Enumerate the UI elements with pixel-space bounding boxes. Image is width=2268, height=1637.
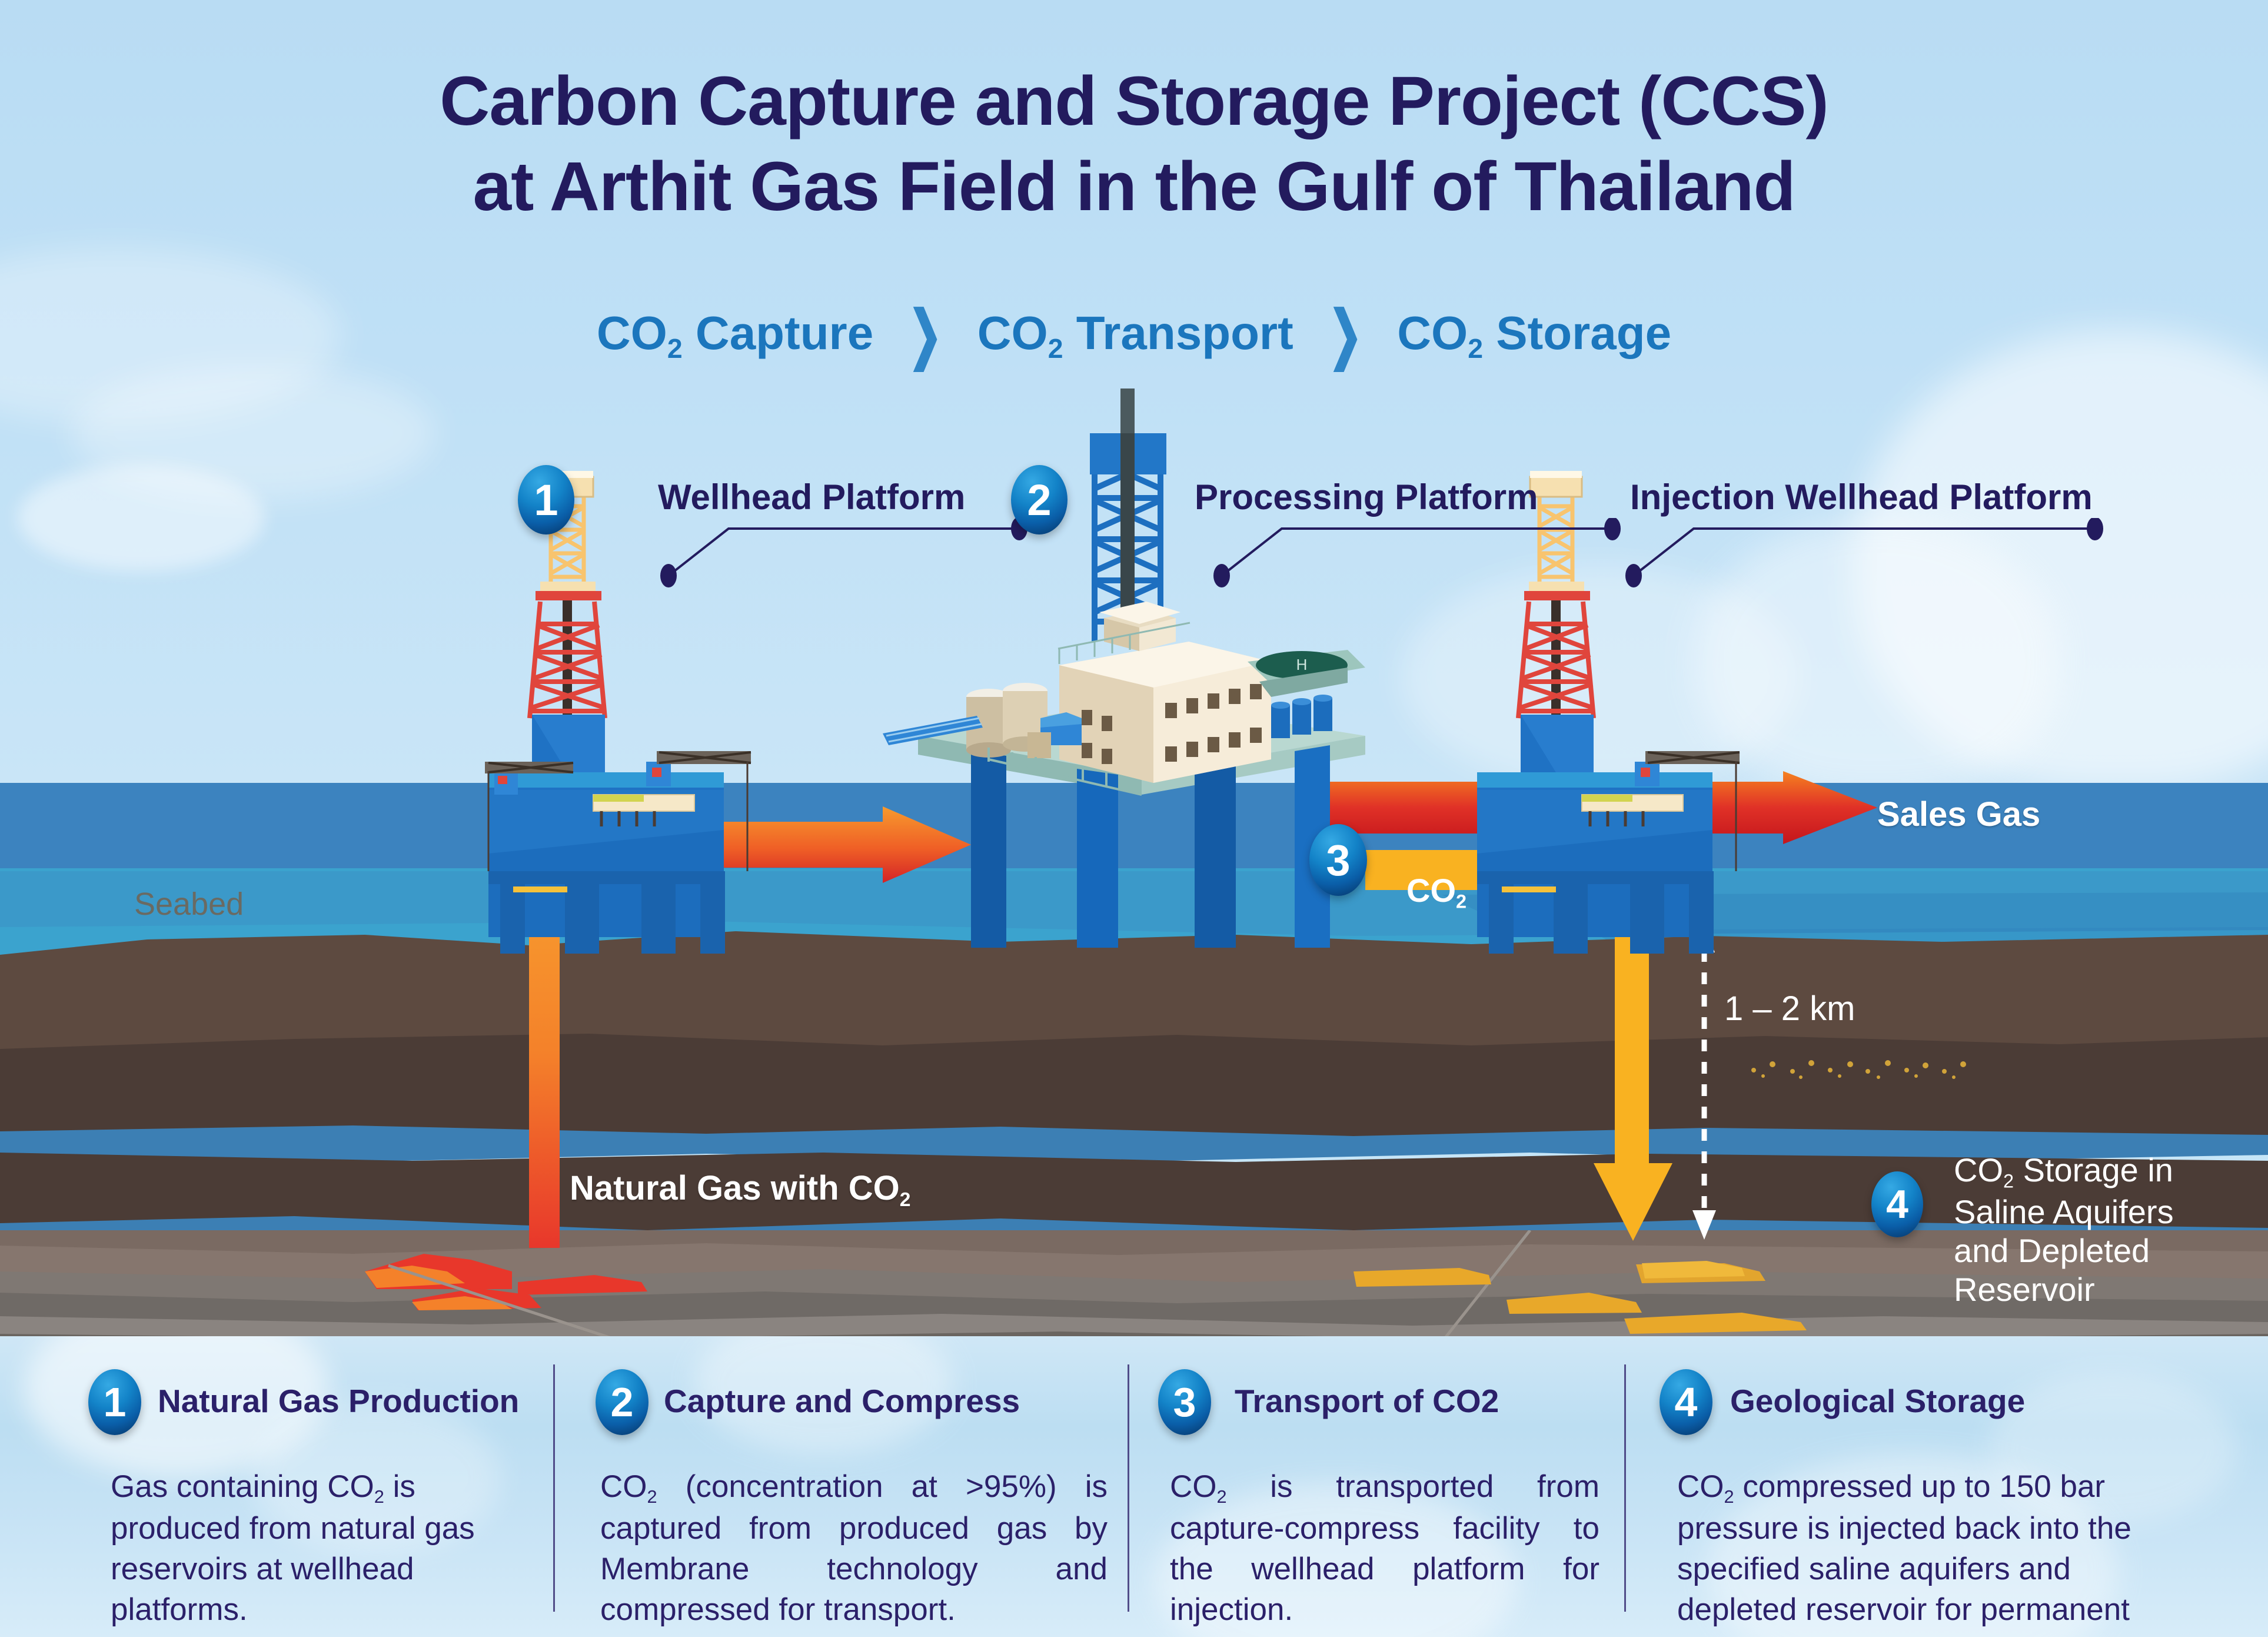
leader-line-platform-3 bbox=[1612, 518, 2119, 589]
cloud-decoration bbox=[18, 465, 265, 571]
svg-text:H: H bbox=[1296, 656, 1308, 673]
step-badge-4: 4 bbox=[1660, 1369, 1712, 1435]
panel-divider bbox=[553, 1364, 555, 1612]
sediment-grains bbox=[1742, 1054, 1989, 1083]
title-line-1: Carbon Capture and Storage Project (CCS) bbox=[0, 59, 2268, 144]
step-heading-3: Transport of CO2 bbox=[1235, 1382, 1499, 1420]
step-body-1: Gas containing CO2 is produced from natu… bbox=[111, 1467, 523, 1630]
storage-line-2: Saline Aquifers bbox=[1954, 1193, 2174, 1231]
flow-step-storage: CO2 Storage bbox=[1397, 306, 1671, 364]
step-body-3: CO2 is transported from capture-compress… bbox=[1170, 1467, 1599, 1630]
storage-line-1: CO2 Storage in bbox=[1954, 1151, 2174, 1193]
infographic-canvas: Carbon Capture and Storage Project (CCS)… bbox=[0, 0, 2268, 1637]
sales-gas-label: Sales Gas bbox=[1877, 795, 2040, 834]
step-heading-1: Natural Gas Production bbox=[158, 1382, 519, 1420]
leader-line-platform-1 bbox=[647, 518, 1071, 589]
process-flow-header: CO2 Capture ❯ CO2 Transport ❯ CO2 Storag… bbox=[0, 305, 2268, 364]
storage-line-4: Reservoir bbox=[1954, 1270, 2174, 1309]
step-badge-3: 3 bbox=[1158, 1369, 1211, 1435]
panel-divider bbox=[1128, 1364, 1129, 1612]
page-title: Carbon Capture and Storage Project (CCS)… bbox=[0, 59, 2268, 230]
co2-arrow-label: CO2 bbox=[1406, 871, 1466, 912]
deep-geology-layers bbox=[0, 1230, 2268, 1342]
natural-gas-label: Natural Gas with CO2 bbox=[570, 1168, 910, 1211]
step-heading-2: Capture and Compress bbox=[664, 1382, 1020, 1420]
diagram-badge-2: 2 bbox=[1011, 465, 1068, 534]
seabed-label: Seabed bbox=[134, 886, 244, 922]
storage-line-3: and Depleted bbox=[1954, 1231, 2174, 1270]
leader-line-platform-2 bbox=[1200, 518, 1636, 589]
steps-panel: 1 Natural Gas Production Gas containing … bbox=[0, 1336, 2268, 1637]
step-heading-4: Geological Storage bbox=[1730, 1382, 2025, 1420]
platform-label-processing: Processing Platform bbox=[1195, 477, 1538, 517]
depth-label: 1 – 2 km bbox=[1724, 989, 1855, 1028]
step-badge-2: 2 bbox=[596, 1369, 649, 1435]
step-body-2: CO2 (concentration at >95%) is captured … bbox=[600, 1467, 1108, 1630]
diagram-badge-4: 4 bbox=[1871, 1171, 1923, 1237]
flow-step-transport: CO2 Transport bbox=[977, 306, 1293, 364]
chevron-right-icon: ❯ bbox=[1328, 298, 1362, 371]
title-line-2: at Arthit Gas Field in the Gulf of Thail… bbox=[0, 144, 2268, 230]
diagram-badge-1: 1 bbox=[518, 465, 574, 534]
co2-storage-label: CO2 Storage in Saline Aquifers and Deple… bbox=[1954, 1151, 2174, 1309]
platform-label-injection: Injection Wellhead Platform bbox=[1630, 477, 2093, 517]
depth-indicator bbox=[1689, 924, 1724, 1242]
chevron-right-icon: ❯ bbox=[909, 298, 943, 371]
panel-divider bbox=[1624, 1364, 1626, 1612]
flow-step-capture: CO2 Capture bbox=[597, 306, 873, 364]
step-badge-1: 1 bbox=[88, 1369, 141, 1435]
step-body-4: CO2 compressed up to 150 bar pressure is… bbox=[1677, 1467, 2195, 1637]
diagram-badge-3: 3 bbox=[1309, 824, 1367, 896]
seabed-soil-layer bbox=[0, 931, 2268, 1054]
platform-label-wellhead: Wellhead Platform bbox=[658, 477, 965, 517]
